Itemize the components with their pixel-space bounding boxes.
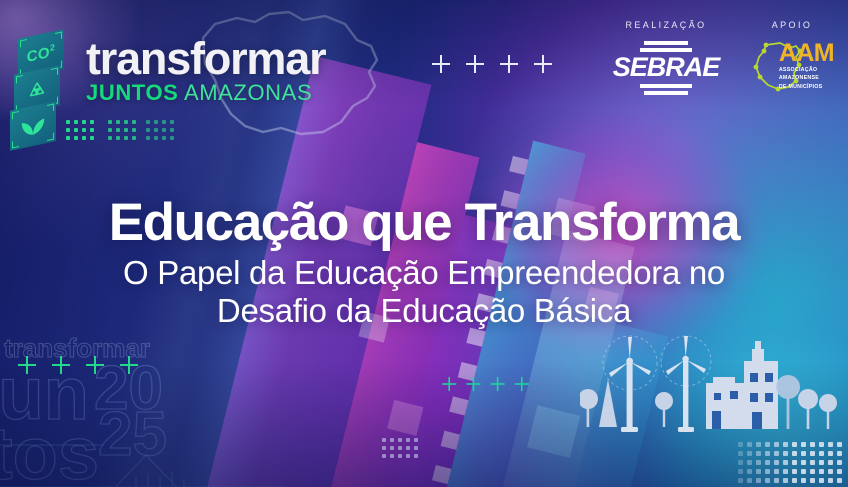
logo-amazonas: AMAZONAS	[184, 80, 312, 105]
co2-label: CO	[27, 44, 50, 66]
aam-tagline-3: DE MUNICÍPIOS	[779, 84, 834, 91]
logo-juntos: JUNTOS	[86, 80, 178, 105]
wind-turbine	[666, 336, 706, 432]
page-title: Educação que Transforma	[0, 196, 848, 250]
aam-tagline-2: AMAZONENSE	[779, 75, 834, 82]
co2-superscript: 2	[50, 42, 55, 53]
sebrae-bar-bottom-2	[644, 91, 688, 95]
logo-subtitle: JUNTOS AMAZONAS	[86, 82, 325, 104]
dot-grid-a	[66, 120, 94, 140]
aam-logo: AAM ASSOCIAÇÃO AMAZONENSE DE MUNICÍPIOS	[750, 39, 834, 97]
apoio-label: APOIO	[772, 20, 813, 30]
sebrae-logo: SEBRAE	[612, 39, 720, 97]
sponsor-logos: REALIZAÇÃO SEBRAE APOIO	[612, 20, 834, 97]
aam-text-block: AAM ASSOCIAÇÃO AMAZONENSE DE MUNICÍPIOS	[779, 43, 834, 91]
sponsor-realizacao: REALIZAÇÃO SEBRAE	[612, 20, 720, 97]
sebrae-bar-top-1	[644, 41, 688, 45]
sustainability-scene	[580, 333, 840, 443]
realizacao-label: REALIZAÇÃO	[625, 20, 706, 30]
page-subtitle-line1: O Papel da Educação Empreendedora no	[0, 254, 848, 292]
aam-wordmark: AAM	[779, 43, 834, 65]
dot-grid-bottom	[382, 438, 418, 458]
dot-grid-c	[146, 120, 174, 140]
tree	[798, 389, 818, 429]
dot-grid-b	[108, 120, 136, 140]
eco-icon-stack: CO2	[8, 34, 70, 142]
logo-wordmark: transformar	[86, 38, 325, 80]
sebrae-bar-top-2	[640, 48, 692, 52]
tree	[776, 375, 800, 429]
tree	[655, 392, 673, 427]
plus-marks-bottom	[18, 356, 138, 374]
transformar-logo: transformar JUNTOS AMAZONAS	[86, 38, 325, 104]
tree	[580, 389, 598, 427]
aam-tagline-1: ASSOCIAÇÃO	[779, 67, 834, 74]
page-subtitle-line2: Desafio da Educação Básica	[0, 292, 848, 330]
title-block: Educação que Transforma O Papel da Educa…	[0, 196, 848, 329]
wind-turbine	[609, 337, 651, 432]
dot-field-bottom-right	[738, 442, 842, 483]
tree	[599, 379, 617, 427]
sponsor-apoio: APOIO AAM ASSOCIAÇÃO AMAZONENSE	[750, 20, 834, 97]
sebrae-wordmark: SEBRAE	[613, 54, 720, 81]
event-banner: transformar jun tos 20 25 CO2	[0, 0, 848, 487]
tree	[819, 394, 837, 429]
sebrae-bar-bottom-1	[640, 84, 692, 88]
plus-marks-center	[442, 377, 529, 391]
plus-marks-top	[432, 55, 552, 73]
